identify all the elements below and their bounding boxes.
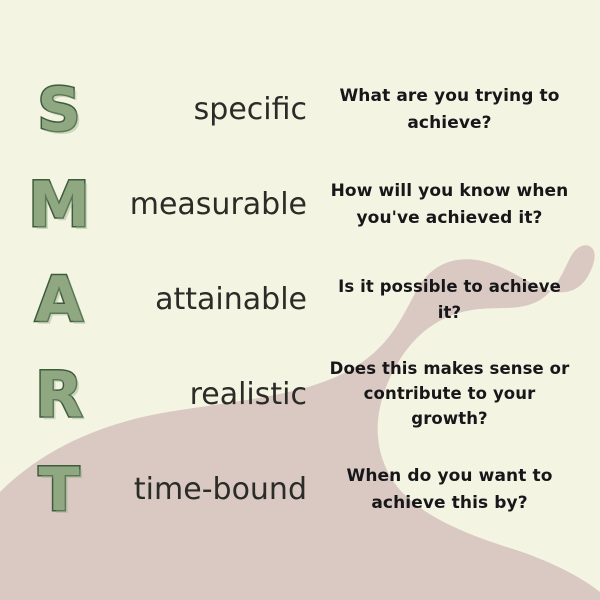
smart-word-attainable: attainable [155, 283, 307, 316]
smart-rows: S specific What are you trying to achiev… [0, 0, 600, 600]
smart-row-attainable: A attainable Is it possible to achieve i… [0, 252, 600, 347]
letter-cell-a: A [0, 269, 118, 331]
smart-letter-a: A [35, 269, 83, 331]
smart-word-specific: specific [194, 93, 307, 126]
word-cell-attainable: attainable [118, 283, 313, 316]
question-cell-time-bound: When do you want to achieve this by? [313, 463, 586, 516]
smart-question-measurable: How will you know when you've achieved i… [325, 178, 575, 231]
letter-cell-m: M [0, 174, 118, 236]
word-cell-realistic: realistic [118, 378, 313, 411]
smart-row-specific: S specific What are you trying to achiev… [0, 62, 600, 157]
letter-cell-r: R [0, 364, 118, 426]
question-cell-measurable: How will you know when you've achieved i… [313, 178, 586, 231]
question-cell-attainable: Is it possible to achieve it? [313, 274, 586, 325]
word-cell-specific: specific [118, 93, 313, 126]
letter-cell-t: T [0, 460, 118, 520]
smart-question-time-bound: When do you want to achieve this by? [325, 463, 575, 516]
question-cell-specific: What are you trying to achieve? [313, 83, 586, 136]
smart-word-realistic: realistic [190, 378, 307, 411]
question-cell-realistic: Does this makes sense or contribute to y… [313, 357, 586, 431]
smart-word-time-bound: time-bound [134, 473, 307, 506]
smart-letter-t: T [39, 460, 80, 520]
word-cell-time-bound: time-bound [118, 473, 313, 506]
letter-cell-s: S [0, 80, 118, 140]
smart-letter-s: S [37, 80, 80, 140]
word-cell-measurable: measurable [118, 188, 313, 221]
smart-goals-poster: S specific What are you trying to achiev… [0, 0, 600, 600]
smart-row-measurable: M measurable How will you know when you'… [0, 157, 600, 252]
smart-letter-r: R [35, 364, 83, 426]
smart-letter-m: M [28, 174, 90, 236]
smart-question-attainable: Is it possible to achieve it? [325, 274, 575, 325]
smart-question-realistic: Does this makes sense or contribute to y… [325, 357, 575, 431]
smart-row-time-bound: T time-bound When do you want to achieve… [0, 442, 600, 537]
smart-word-measurable: measurable [130, 188, 307, 221]
smart-row-realistic: R realistic Does this makes sense or con… [0, 347, 600, 442]
smart-question-specific: What are you trying to achieve? [325, 83, 575, 136]
